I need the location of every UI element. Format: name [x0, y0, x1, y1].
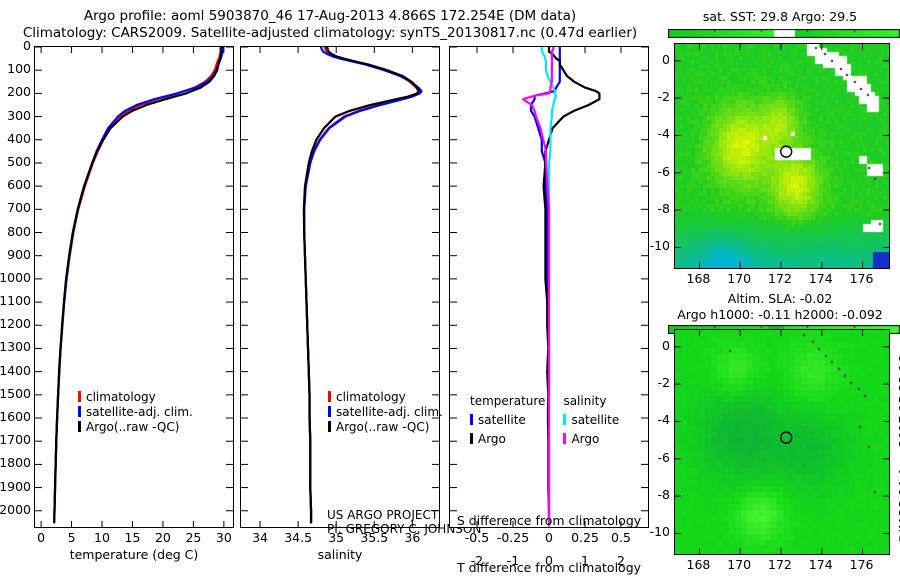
map-ytick: -6: [644, 450, 670, 465]
legend-header-salinity: salinity: [563, 390, 619, 409]
map-xtick: 170: [723, 557, 755, 572]
map-xtick: 176: [846, 557, 878, 572]
temperature-xtick: 15: [118, 530, 146, 545]
depth-ytick: 1800: [0, 455, 31, 470]
salinity-profile-panel: [240, 46, 440, 528]
depth-ytick: 200: [0, 84, 31, 99]
depth-ytick: 500: [0, 154, 31, 169]
depth-ytick: 400: [0, 131, 31, 146]
salinity-legend: climatology satellite-adj. clim. Argo(..…: [328, 390, 443, 435]
depth-ytick: 0: [0, 38, 31, 53]
legend-label-argo: Argo(..raw -QC): [86, 420, 179, 434]
legend-item-sal-argo: Argo: [563, 428, 619, 447]
legend-label-climatology-sal: climatology: [336, 390, 406, 404]
sst-map-image: [675, 44, 889, 268]
legend-swatch-satellite-adj: [78, 406, 81, 417]
temperature-profile-panel: [34, 46, 234, 528]
legend-item-sal-satellite: satellite: [563, 409, 619, 428]
legend-swatch-argo-sal: [328, 421, 331, 432]
legend-item-satellite-adj: satellite-adj. clim.: [78, 405, 193, 420]
map-xtick: 174: [805, 557, 837, 572]
map-ytick: -2: [644, 89, 670, 104]
temperature-legend: climatology satellite-adj. clim. Argo(..…: [78, 390, 193, 435]
temperature-xtick: 20: [149, 530, 177, 545]
map-ytick: -10: [644, 524, 670, 539]
map-xtick: 174: [805, 271, 837, 286]
depth-ytick: 100: [0, 61, 31, 76]
depth-ytick: 700: [0, 200, 31, 215]
map-ytick: -6: [644, 164, 670, 179]
sla-map-panel: [674, 329, 890, 555]
legend-label-satellite-adj-sal: satellite-adj. clim.: [336, 405, 443, 419]
salinity-axis-label: salinity: [240, 547, 440, 562]
legend-swatch-temp-satellite: [470, 414, 473, 425]
legend-header-temperature: temperature: [470, 390, 563, 409]
depth-ytick: 1000: [0, 270, 31, 285]
depth-ytick: 1500: [0, 386, 31, 401]
temperature-xtick: 10: [88, 530, 116, 545]
map-ytick: -4: [644, 412, 670, 427]
depth-ytick: 1900: [0, 479, 31, 494]
map-ytick: -8: [644, 487, 670, 502]
sla-map-title-line1: Altim. SLA: -0.02: [660, 291, 900, 306]
map-ytick: 0: [644, 338, 670, 353]
legend-swatch-sal-satellite: [563, 414, 566, 425]
legend-item-climatology: climatology: [78, 390, 193, 405]
map-ytick: -4: [644, 126, 670, 141]
legend-label-satellite-adj: satellite-adj. clim.: [86, 405, 193, 419]
legend-item-climatology-sal: climatology: [328, 390, 443, 405]
difference-profile-plot: [450, 47, 648, 527]
page-title-line1: Argo profile: aoml 5903870_46 17-Aug-201…: [0, 8, 660, 24]
map-xtick: 176: [846, 271, 878, 286]
depth-ytick: 300: [0, 108, 31, 123]
legend-item-satellite-adj-sal: satellite-adj. clim.: [328, 405, 443, 420]
depth-ytick: 1700: [0, 432, 31, 447]
map-xtick: 172: [764, 557, 796, 572]
page-title-line2: Climatology: CARS2009. Satellite-adjuste…: [0, 25, 660, 41]
salinity-difference-xtick: 0.5: [597, 530, 645, 545]
salinity-profile-plot: [241, 47, 439, 527]
depth-ytick: 1600: [0, 409, 31, 424]
difference-profile-panel: [449, 46, 649, 528]
depth-ytick: 600: [0, 177, 31, 192]
legend-label-climatology: climatology: [86, 390, 156, 404]
legend-item-argo-sal: Argo(..raw -QC): [328, 420, 443, 435]
map-ytick: -8: [644, 201, 670, 216]
temperature-xtick: 0: [27, 530, 55, 545]
temperature-difference-axis-label: T difference from climatology: [449, 560, 649, 575]
legend-label-argo-sal: Argo(..raw -QC): [336, 420, 429, 434]
legend-item-temp-satellite: satellite: [470, 409, 563, 428]
salinity-difference-axis-label: S difference from climatology: [449, 513, 649, 528]
map-ytick: 0: [644, 52, 670, 67]
imos-credit: ©IMOS 04-Aug-2017 15:23:16: [896, 355, 900, 545]
depth-ytick: 900: [0, 247, 31, 262]
difference-legend: temperature salinity satellite satellite…: [470, 390, 619, 447]
legend-swatch-climatology: [78, 391, 81, 402]
legend-item-argo: Argo(..raw -QC): [78, 420, 193, 435]
sst-map-panel: [674, 43, 890, 269]
legend-swatch-sal-argo: [563, 433, 566, 444]
temperature-xtick: 25: [179, 530, 207, 545]
depth-ytick: 1400: [0, 363, 31, 378]
temperature-xtick: 30: [210, 530, 238, 545]
legend-label-sal-satellite: satellite: [571, 413, 619, 427]
temperature-profile-plot: [35, 47, 233, 527]
sla-map-image: [675, 330, 889, 554]
legend-swatch-argo: [78, 421, 81, 432]
map-xtick: 168: [682, 271, 714, 286]
legend-swatch-climatology-sal: [328, 391, 331, 402]
map-ytick: -10: [644, 238, 670, 253]
temperature-axis-label: temperature (deg C): [34, 547, 234, 562]
sst-map-title: sat. SST: 29.8 Argo: 29.5: [660, 9, 900, 24]
depth-ytick: 2000: [0, 502, 31, 517]
legend-item-temp-argo: Argo: [470, 428, 563, 447]
legend-swatch-satellite-adj-sal: [328, 406, 331, 417]
map-xtick: 172: [764, 271, 796, 286]
depth-ytick: 1100: [0, 293, 31, 308]
depth-ytick: 800: [0, 224, 31, 239]
legend-label-temp-satellite: satellite: [478, 413, 526, 427]
sst-colorbar: [668, 29, 900, 38]
legend-label-temp-argo: Argo: [478, 432, 506, 446]
map-xtick: 168: [682, 557, 714, 572]
map-ytick: -2: [644, 375, 670, 390]
sla-map-title-line2: Argo h1000: -0.11 h2000: -0.092: [660, 307, 900, 322]
legend-swatch-temp-argo: [470, 433, 473, 444]
legend-label-sal-argo: Argo: [571, 432, 599, 446]
map-xtick: 170: [723, 271, 755, 286]
depth-ytick: 1300: [0, 339, 31, 354]
temperature-xtick: 5: [58, 530, 86, 545]
depth-ytick: 1200: [0, 316, 31, 331]
